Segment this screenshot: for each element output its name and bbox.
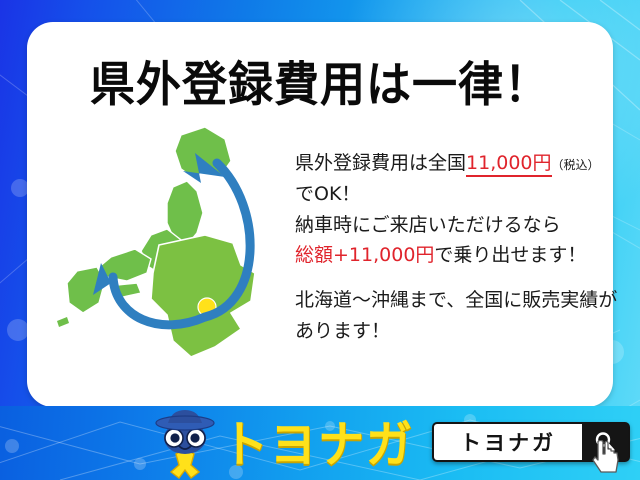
search-input[interactable]: トヨナガ bbox=[434, 424, 582, 460]
copy-line4-rest: で乗り出せます！ bbox=[434, 244, 586, 266]
japan-map-icon bbox=[55, 117, 287, 397]
price-highlight: 11,000円 bbox=[466, 152, 551, 177]
toyonaga-mascot-icon bbox=[150, 408, 220, 480]
footer-band: トヨナガ トヨナガ bbox=[0, 406, 640, 480]
copy-line-2: でOK！ bbox=[295, 179, 625, 210]
copy-line-5: 北海道〜沖縄まで、全国に販売実績が bbox=[295, 285, 625, 316]
copy-line-1: 県外登録費用は全国11,000円（税込） bbox=[295, 148, 625, 179]
info-card: 県外登録費用は一律！ 県外 bbox=[27, 22, 613, 407]
screenshot-root: 県外登録費用は一律！ 県外 bbox=[0, 0, 640, 480]
tax-note: （税込） bbox=[552, 158, 600, 172]
page-title: 県外登録費用は一律！ bbox=[27, 46, 613, 115]
copy-line-6: あります！ bbox=[295, 316, 625, 347]
hand-pointer-icon bbox=[592, 440, 622, 474]
brand-logotype: トヨナガ bbox=[222, 406, 414, 477]
copy-line1-prefix: 県外登録費用は全国 bbox=[295, 152, 466, 174]
copy-spacer bbox=[295, 271, 625, 285]
copy-line-3: 納車時にご来店いただけるなら bbox=[295, 210, 625, 241]
card-body-copy: 県外登録費用は全国11,000円（税込） でOK！ 納車時にご来店いただけるなら… bbox=[295, 148, 625, 347]
copy-line-4: 総額+11,000円で乗り出せます！ bbox=[295, 240, 625, 271]
total-price-highlight: 総額+11,000円 bbox=[295, 244, 434, 266]
